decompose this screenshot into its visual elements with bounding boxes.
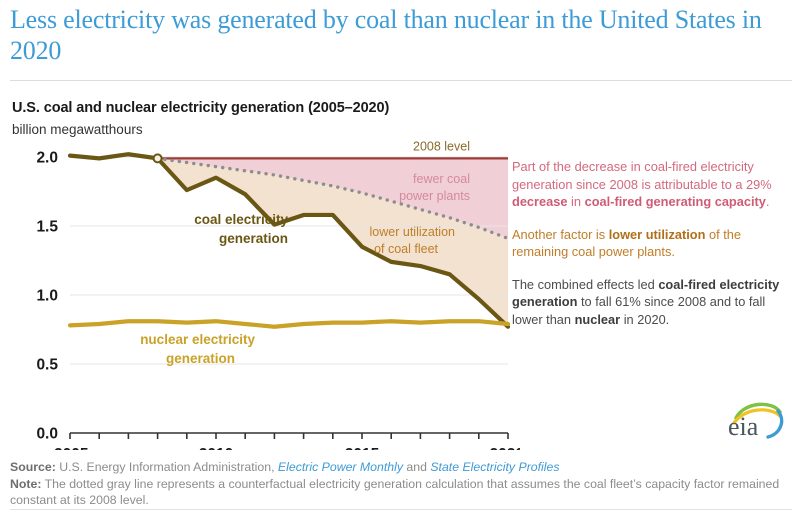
body-text: in [568, 194, 585, 209]
chart-svg: 0.00.51.01.52.020052010201520202008 leve… [0, 140, 520, 450]
footer-divider [10, 509, 792, 510]
body-text: The combined effects led [512, 277, 658, 292]
y-tick-label-1.0: 1.0 [36, 288, 58, 305]
label-nuclear-electricity-generation: nuclear electricitygeneration [140, 332, 255, 366]
footer-note-line: Note: The dotted gray line represents a … [10, 476, 794, 509]
x-tick-label-2005: 2005 [54, 446, 89, 450]
label-2008-level: 2008 level [413, 140, 470, 153]
chart-plot: 0.00.51.01.52.020052010201520202008 leve… [0, 140, 520, 450]
y-tick-label-2.0: 2.0 [36, 150, 58, 167]
emphasis-text: decrease [512, 194, 568, 209]
x-tick-label-2020: 2020 [490, 446, 520, 450]
line-nuclear-generation [70, 321, 508, 327]
eia-logo-text: eia [728, 412, 759, 440]
y-tick-label-0.0: 0.0 [36, 426, 58, 443]
source-and: and [403, 460, 430, 474]
chart-subtitle: billion megawatthours [12, 122, 143, 137]
source-link-state-electricity-profiles[interactable]: State Electricity Profiles [430, 460, 559, 474]
source-label: Source: [10, 460, 56, 474]
emphasis-text: lower utilization [609, 227, 706, 242]
eia-logo-svg: eia [714, 398, 786, 440]
page-headline: Less electricity was generated by coal t… [10, 4, 770, 66]
side-paragraph-utilization: Another factor is lower utilization of t… [512, 226, 794, 261]
source-text: U.S. Energy Information Administration, [56, 460, 278, 474]
body-text: in 2020. [620, 312, 669, 327]
footer-source-line: Source: U.S. Energy Information Administ… [10, 459, 794, 476]
note-label: Note: [10, 477, 41, 491]
body-text: Part of the decrease in coal-fired elect… [512, 159, 772, 192]
body-text: Another factor is [512, 227, 609, 242]
note-text: The dotted gray line represents a counte… [10, 477, 779, 508]
side-paragraph-combined: The combined effects led coal-fired elec… [512, 276, 794, 329]
source-link-electric-power-monthly[interactable]: Electric Power Monthly [278, 460, 403, 474]
label-coal-electricity-generation: coal electricitygeneration [194, 212, 288, 246]
eia-logo: eia [714, 398, 786, 440]
header-divider [10, 80, 792, 81]
emphasis-text: coal-fired generating capacity [585, 194, 766, 209]
body-text: . [766, 194, 770, 209]
chart-title: U.S. coal and nuclear electricity genera… [12, 100, 389, 116]
x-tick-label-2010: 2010 [199, 446, 233, 450]
side-paragraph-capacity: Part of the decrease in coal-fired elect… [512, 158, 794, 211]
x-tick-label-2015: 2015 [345, 446, 380, 450]
y-tick-label-0.5: 0.5 [36, 357, 58, 374]
emphasis-text: nuclear [575, 312, 621, 327]
side-annotations: Part of the decrease in coal-fired elect… [512, 158, 794, 343]
2008-start-marker [154, 154, 162, 162]
y-tick-label-1.5: 1.5 [36, 219, 58, 236]
footer-notes: Source: U.S. Energy Information Administ… [10, 459, 794, 509]
